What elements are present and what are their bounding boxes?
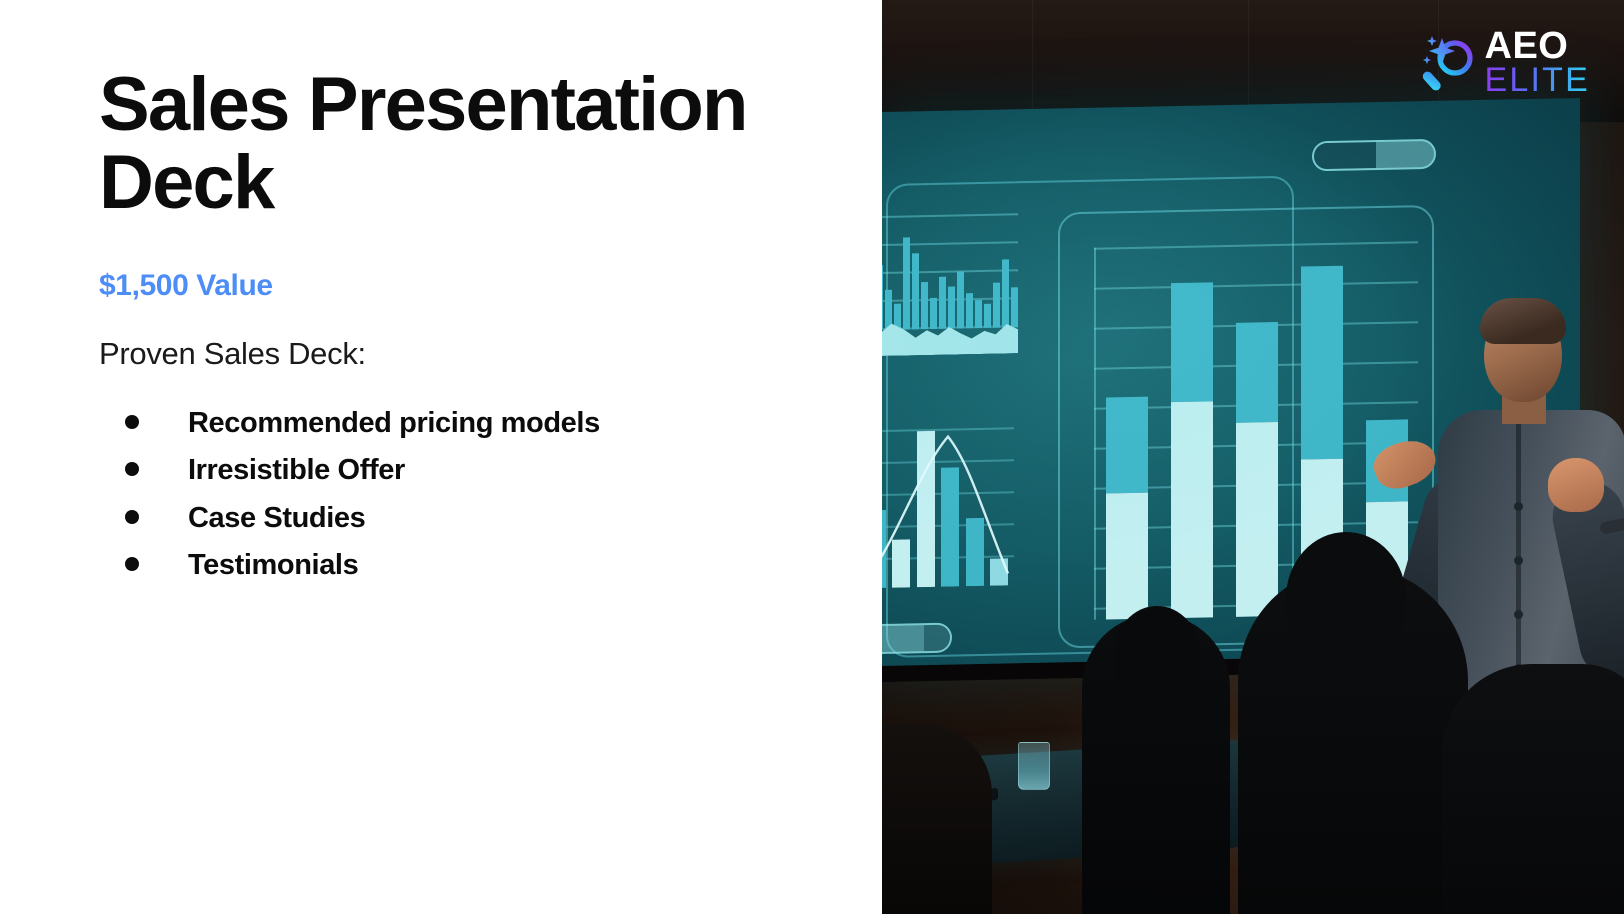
- list-item-label: Case Studies: [188, 501, 365, 536]
- bar-3: [1236, 322, 1278, 617]
- chart-bar-trend-card: [882, 405, 1014, 588]
- bullet-dot-icon: [125, 462, 139, 476]
- bar-1: [1106, 397, 1148, 620]
- audience-head-1: [1114, 606, 1200, 702]
- list-item-label: Testimonials: [188, 548, 358, 583]
- trend-curve-line: [882, 405, 1014, 588]
- histogram-bars: [882, 209, 1018, 330]
- presentation-photo: AEO ELITE: [882, 0, 1624, 914]
- section-subheading: Proven Sales Deck:: [99, 336, 822, 372]
- audience-head-2: [1286, 532, 1406, 664]
- slide-root: Sales Presentation Deck $1,500 Value Pro…: [0, 0, 1624, 914]
- page-title: Sales Presentation Deck: [99, 56, 799, 221]
- presenter-right-hand: [1548, 458, 1604, 512]
- feature-bullet-list: Recommended pricing models Irresistible …: [99, 406, 822, 584]
- list-item: Case Studies: [99, 501, 822, 536]
- audience-silhouette-3: [1442, 664, 1624, 914]
- list-item: Testimonials: [99, 548, 822, 583]
- water-glass: [1018, 742, 1050, 790]
- audience-silhouette-edge: [882, 724, 992, 914]
- progress-pill-top: [1312, 139, 1436, 171]
- logo-primary-text: AEO: [1485, 29, 1590, 65]
- bullet-dot-icon: [125, 415, 139, 429]
- logo-secondary-text: ELITE: [1485, 65, 1590, 97]
- list-item-label: Irresistible Offer: [188, 453, 405, 488]
- bullet-dot-icon: [125, 557, 139, 571]
- value-badge: $1,500 Value: [99, 269, 822, 303]
- bar-2: [1171, 282, 1213, 618]
- chart-histogram-card: [882, 201, 1018, 356]
- list-item-label: Recommended pricing models: [188, 406, 600, 441]
- list-item: Irresistible Offer: [99, 453, 822, 488]
- bullet-dot-icon: [125, 510, 139, 524]
- magnifier-sparkle-icon: [1419, 32, 1477, 94]
- progress-pill-bottom: [882, 623, 952, 655]
- left-content-panel: Sales Presentation Deck $1,500 Value Pro…: [0, 0, 882, 914]
- brand-logo: AEO ELITE: [1419, 29, 1590, 97]
- list-item: Recommended pricing models: [99, 406, 822, 441]
